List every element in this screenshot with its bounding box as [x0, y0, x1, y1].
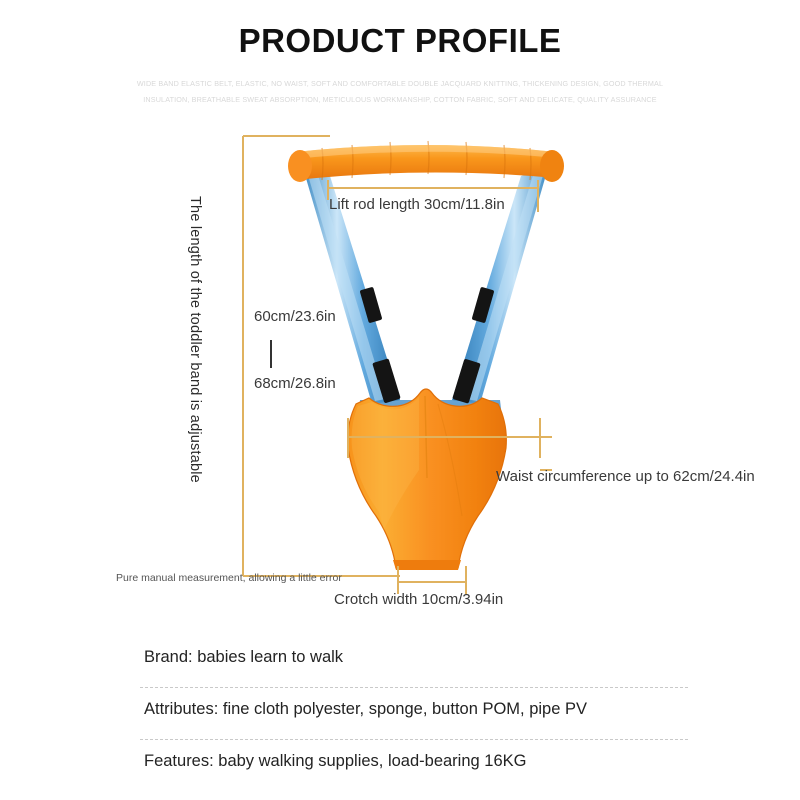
harness-body: [348, 389, 507, 570]
spec-row-attributes: Attributes: fine cloth polyester, sponge…: [0, 688, 800, 740]
product-diagram: Lift rod length 30cm/11.8in 60cm/23.6in …: [0, 0, 800, 630]
dimension-label-lift-rod: Lift rod length 30cm/11.8in: [329, 196, 505, 213]
spec-row-features: Features: baby walking supplies, load-be…: [0, 740, 800, 792]
dimension-label-length-max: 68cm/26.8in: [254, 375, 336, 392]
measurement-disclaimer: Pure manual measurement, allowing a litt…: [116, 572, 342, 584]
product-spec-list: Brand: babies learn to walk Attributes: …: [0, 636, 800, 792]
dimension-label-adjustable-length: The length of the toddler band is adjust…: [187, 196, 203, 526]
dimension-label-length-min: 60cm/23.6in: [254, 308, 336, 325]
spec-row-brand: Brand: babies learn to walk: [0, 636, 800, 688]
dimension-label-crotch: Crotch width 10cm/3.94in: [334, 591, 503, 608]
harness-illustration: [0, 0, 800, 630]
spec-text-brand: Brand: babies learn to walk: [144, 648, 343, 667]
dimension-crotch: [398, 566, 466, 594]
dimension-label-waist: Waist circumference up to 62cm/24.4in: [496, 468, 755, 485]
spec-text-features: Features: baby walking supplies, load-be…: [144, 752, 526, 771]
spec-text-attributes: Attributes: fine cloth polyester, sponge…: [144, 700, 587, 719]
